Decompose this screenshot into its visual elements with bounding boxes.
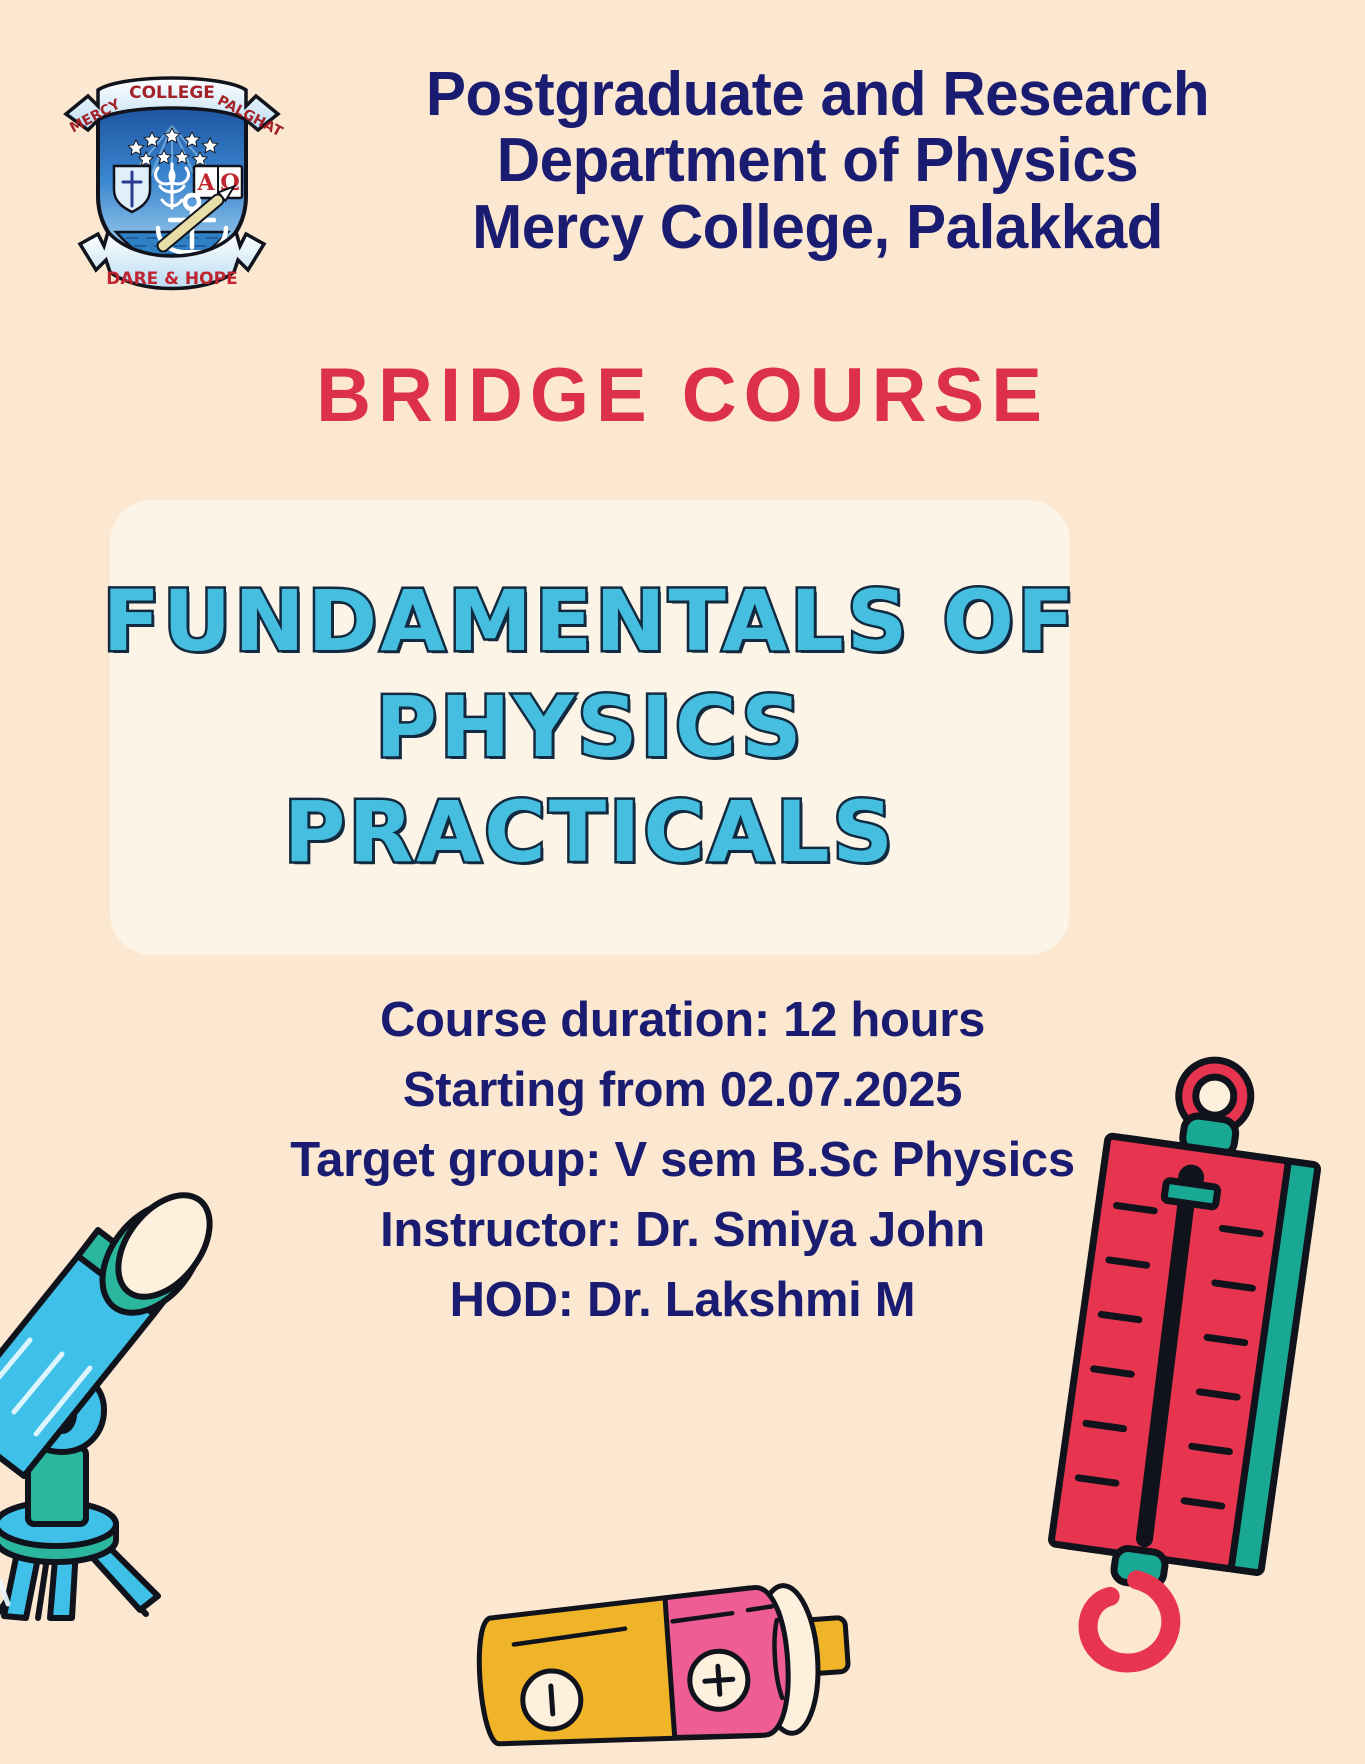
- college-crest-logo: A Ω MERCY COLLEGE PALGHAT: [52, 56, 292, 296]
- header-line-2: Department of Physics: [316, 128, 1320, 194]
- course-title-line-1: FUNDAMENTALS OF: [103, 569, 1078, 675]
- course-title: FUNDAMENTALS OF PHYSICS PRACTICALS: [103, 569, 1078, 886]
- detail-course-duration: Course duration: 12 hours: [0, 985, 1365, 1055]
- crest-banner-center: COLLEGE: [129, 83, 215, 103]
- course-title-card: FUNDAMENTALS OF PHYSICS PRACTICALS: [110, 500, 1070, 955]
- battery-icon: [470, 1560, 860, 1764]
- course-title-line-2: PHYSICS: [103, 675, 1078, 781]
- page-title: Postgraduate and Research Department of …: [316, 62, 1320, 261]
- telescope-icon: [0, 1118, 288, 1618]
- spring-scale-icon: [1060, 1060, 1365, 1620]
- course-title-line-3: PRACTICALS: [103, 780, 1078, 886]
- poster-header: A Ω MERCY COLLEGE PALGHAT: [0, 34, 1365, 304]
- crest-motto: DARE & HOPE: [106, 269, 237, 289]
- header-line-1: Postgraduate and Research: [316, 62, 1320, 128]
- crest-alpha: A: [196, 170, 215, 196]
- header-line-3: Mercy College, Palakkad: [316, 195, 1320, 261]
- bridge-course-heading: BRIDGE COURSE: [0, 352, 1365, 439]
- poster-canvas: A Ω MERCY COLLEGE PALGHAT: [0, 0, 1365, 1764]
